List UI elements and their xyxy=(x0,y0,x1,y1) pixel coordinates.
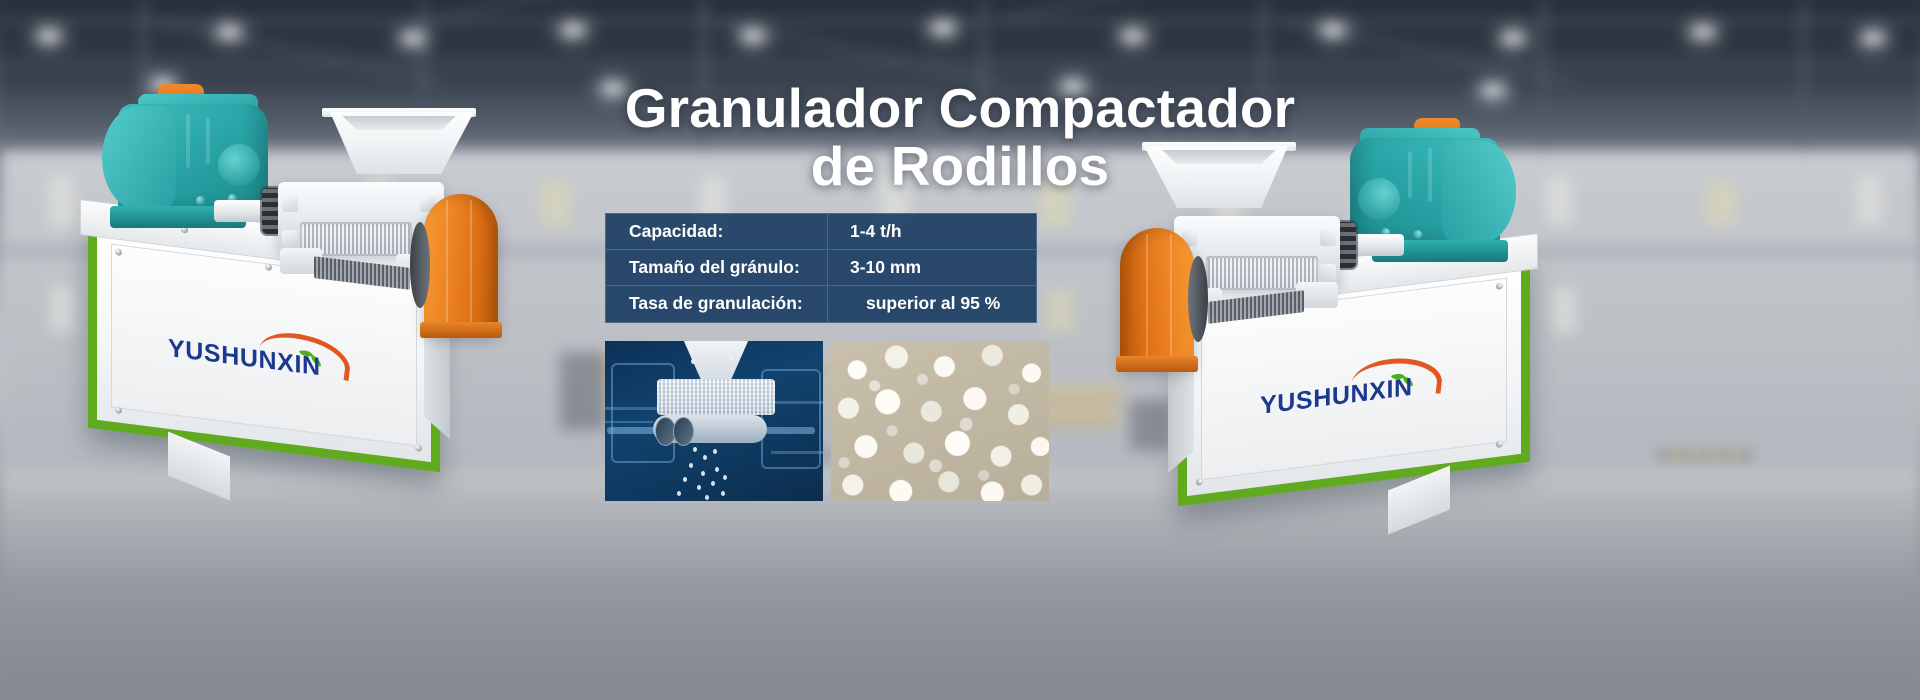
ceiling-lamp xyxy=(400,32,426,45)
spec-key-granulation-rate: Tasa de granulación: xyxy=(606,286,828,322)
schematic-disc xyxy=(673,417,694,446)
flywheel-disc xyxy=(410,222,430,308)
schematic-line xyxy=(605,407,663,410)
flywheel-guard xyxy=(1120,228,1194,368)
schematic-granule xyxy=(701,471,705,476)
flywheel-rib xyxy=(470,200,472,326)
schematic-granule xyxy=(713,449,717,454)
flywheel-disc xyxy=(1188,256,1208,342)
schematic-granule xyxy=(683,477,687,482)
flywheel-rib xyxy=(446,200,448,326)
schematic-granule xyxy=(711,481,715,486)
granule-highlights xyxy=(831,341,1049,501)
schematic-line xyxy=(771,401,823,404)
schematic-line xyxy=(771,451,823,454)
table-row: Capacidad: 1-4 t/h xyxy=(606,214,1036,250)
base-screw xyxy=(115,406,122,414)
specification-table: Capacidad: 1-4 t/h Tamaño del gránulo: 3… xyxy=(605,213,1037,323)
schematic-shaft xyxy=(765,427,815,434)
roller-bracket xyxy=(1320,264,1336,280)
gearbox-bolt xyxy=(196,196,205,205)
ceiling-lamp xyxy=(36,30,62,43)
roller-bracket xyxy=(1320,230,1336,246)
schematic-granule xyxy=(693,447,697,452)
schematic-line xyxy=(605,421,653,423)
spec-value-capacity: 1-4 t/h xyxy=(828,221,1036,242)
schematic-granule xyxy=(715,467,719,472)
photo-granules xyxy=(831,341,1049,501)
wall-window xyxy=(1552,288,1576,334)
ceiling-lamp xyxy=(1120,30,1146,43)
flywheel-rib xyxy=(1170,234,1172,360)
ceiling-lamp xyxy=(560,24,586,37)
ceiling-lamp xyxy=(1500,32,1526,45)
schematic-granule xyxy=(677,491,681,496)
schematic-roller-body xyxy=(657,379,775,415)
base-screw xyxy=(115,248,122,256)
flywheel-shell xyxy=(424,194,498,334)
spec-value-granulation-rate: superior al 95 % xyxy=(828,293,1036,314)
table-row: Tamaño del gránulo: 3-10 mm xyxy=(606,250,1036,286)
drive-shaft xyxy=(1348,234,1404,256)
wall-window xyxy=(50,286,74,332)
floor-hazard-stripe xyxy=(1660,452,1750,459)
roller-bracket xyxy=(282,196,298,212)
roller-bracket xyxy=(282,230,298,246)
gearbox-bolt xyxy=(1413,230,1422,239)
wall-window xyxy=(1046,290,1074,332)
schematic-roller-texture xyxy=(657,379,775,415)
crate xyxy=(560,352,606,430)
schematic-granule xyxy=(697,485,701,490)
flywheel-shell xyxy=(1120,228,1194,368)
title-line-1: Granulador Compactador xyxy=(625,77,1296,139)
schematic-shaft xyxy=(607,427,655,434)
ceiling-lamp xyxy=(1690,26,1716,39)
flywheel-rib xyxy=(1146,234,1148,360)
spec-value-granule-size: 3-10 mm xyxy=(828,257,1036,278)
ceiling-lamp xyxy=(740,30,766,43)
truss-beam xyxy=(0,18,1920,23)
flywheel-guard xyxy=(424,194,498,334)
ceiling-lamp xyxy=(216,26,242,39)
table-row: Tasa de granulación: superior al 95 % xyxy=(606,286,1036,322)
flywheel-base xyxy=(1116,356,1198,372)
schematic-granule xyxy=(721,491,725,496)
photo-schematic xyxy=(605,341,823,501)
title-line-2: de Rodillos xyxy=(0,137,1920,195)
product-banner: YUSHUNXIN xyxy=(0,0,1920,700)
page-title: Granulador Compactador de Rodillos xyxy=(0,79,1920,196)
ceiling-lamp xyxy=(1860,32,1886,45)
base-screw xyxy=(265,263,272,271)
base-screw xyxy=(415,444,422,452)
ceiling-lamp xyxy=(930,22,956,35)
schematic-granule xyxy=(729,355,733,360)
spec-key-granule-size: Tamaño del gránulo: xyxy=(606,250,828,285)
spec-key-capacity: Capacidad: xyxy=(606,214,828,249)
base-screw xyxy=(1196,478,1203,486)
schematic-granule xyxy=(689,463,693,468)
schematic-granule xyxy=(691,359,695,364)
base-screw xyxy=(1496,440,1503,448)
schematic-granule xyxy=(723,475,727,480)
flywheel-base xyxy=(420,322,502,338)
ceiling-lamp xyxy=(1320,24,1346,37)
schematic-granule xyxy=(703,455,707,460)
schematic-granule xyxy=(705,495,709,500)
